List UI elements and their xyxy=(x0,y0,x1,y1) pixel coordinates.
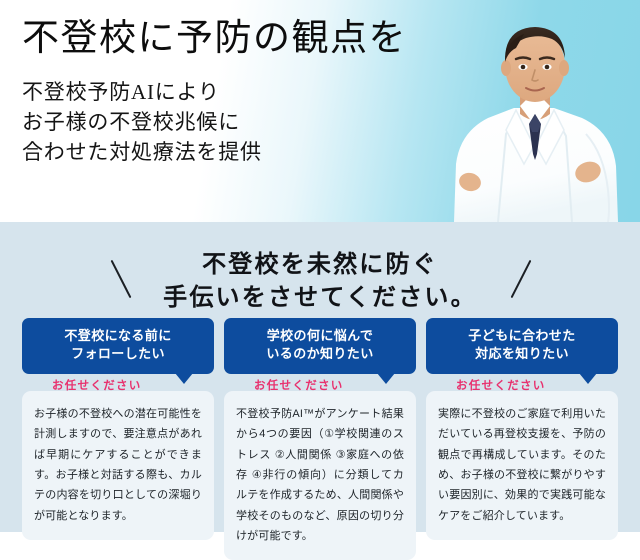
benefit-column-1: 不登校になる前に フォローしたい お任せください お子様の不登校への潜在可能性を… xyxy=(22,318,214,560)
benefit-bubble-1-line-2: フォローしたい xyxy=(28,345,208,363)
benefit-card-3: 実際に不登校のご家庭で利用いただいている再登校支援を、予防の観点で再構成していま… xyxy=(426,391,618,540)
benefit-bubble-3-line-1: 子どもに合わせた xyxy=(432,327,612,345)
section-heading-line-2: 手伝いをさせてください。 xyxy=(0,282,640,315)
hero-subtitle-line-3: 合わせた対処療法を提供 xyxy=(22,138,407,168)
hero-subtitle-line-2: お子様の不登校兆候に xyxy=(22,108,407,138)
hero-subtitle-line-1: 不登校予防AIにより xyxy=(22,78,407,108)
benefits-section: 不登校を未然に防ぐ 手伝いをさせてください。 不登校になる前に フォローしたい … xyxy=(0,222,640,532)
benefit-card-1: お子様の不登校への潜在可能性を計測しますので、要注意点があれば早期にケアすること… xyxy=(22,391,214,540)
bubble-tail-icon xyxy=(377,373,395,384)
section-heading-wrap: 不登校を未然に防ぐ 手伝いをさせてください。 xyxy=(0,222,640,310)
landing-page: 不登校に予防の観点を 不登校予防AIにより お子様の不登校兆候に 合わせた対処療… xyxy=(0,0,640,532)
section-heading: 不登校を未然に防ぐ 手伝いをさせてください。 xyxy=(0,249,640,314)
benefit-column-3: 子どもに合わせた 対応を知りたい お任せください 実際に不登校のご家庭で利用いた… xyxy=(426,318,618,560)
hero-text-block: 不登校に予防の観点を 不登校予防AIにより お子様の不登校兆候に 合わせた対処療… xyxy=(22,18,407,168)
section-heading-line-1: 不登校を未然に防ぐ xyxy=(0,249,640,282)
hero-title: 不登校に予防の観点を xyxy=(22,18,407,59)
hero-section: 不登校に予防の観点を 不登校予防AIにより お子様の不登校兆候に 合わせた対処療… xyxy=(0,0,640,222)
assurance-label-2: お任せください xyxy=(254,377,344,393)
benefit-columns: 不登校になる前に フォローしたい お任せください お子様の不登校への潜在可能性を… xyxy=(22,318,618,560)
hero-subtitle: 不登校予防AIにより お子様の不登校兆候に 合わせた対処療法を提供 xyxy=(22,78,407,167)
benefit-bubble-2: 学校の何に悩んで いるのか知りたい xyxy=(224,318,416,374)
doctor-photo xyxy=(436,14,632,222)
assurance-label-1: お任せください xyxy=(52,377,142,393)
benefit-bubble-2-line-2: いるのか知りたい xyxy=(230,345,410,363)
benefit-bubble-1: 不登校になる前に フォローしたい xyxy=(22,318,214,374)
benefit-bubble-1-line-1: 不登校になる前に xyxy=(28,327,208,345)
bubble-tail-icon xyxy=(175,373,193,384)
benefit-bubble-3-line-2: 対応を知りたい xyxy=(432,345,612,363)
benefit-column-2: 学校の何に悩んで いるのか知りたい お任せください 不登校予防AI™がアンケート… xyxy=(224,318,416,560)
benefit-bubble-2-line-1: 学校の何に悩んで xyxy=(230,327,410,345)
benefit-card-2: 不登校予防AI™がアンケート結果から4つの要因（①学校関連のストレス ②人間関係… xyxy=(224,391,416,560)
assurance-label-3: お任せください xyxy=(456,377,546,393)
bubble-tail-icon xyxy=(579,373,597,384)
benefit-bubble-3: 子どもに合わせた 対応を知りたい xyxy=(426,318,618,374)
